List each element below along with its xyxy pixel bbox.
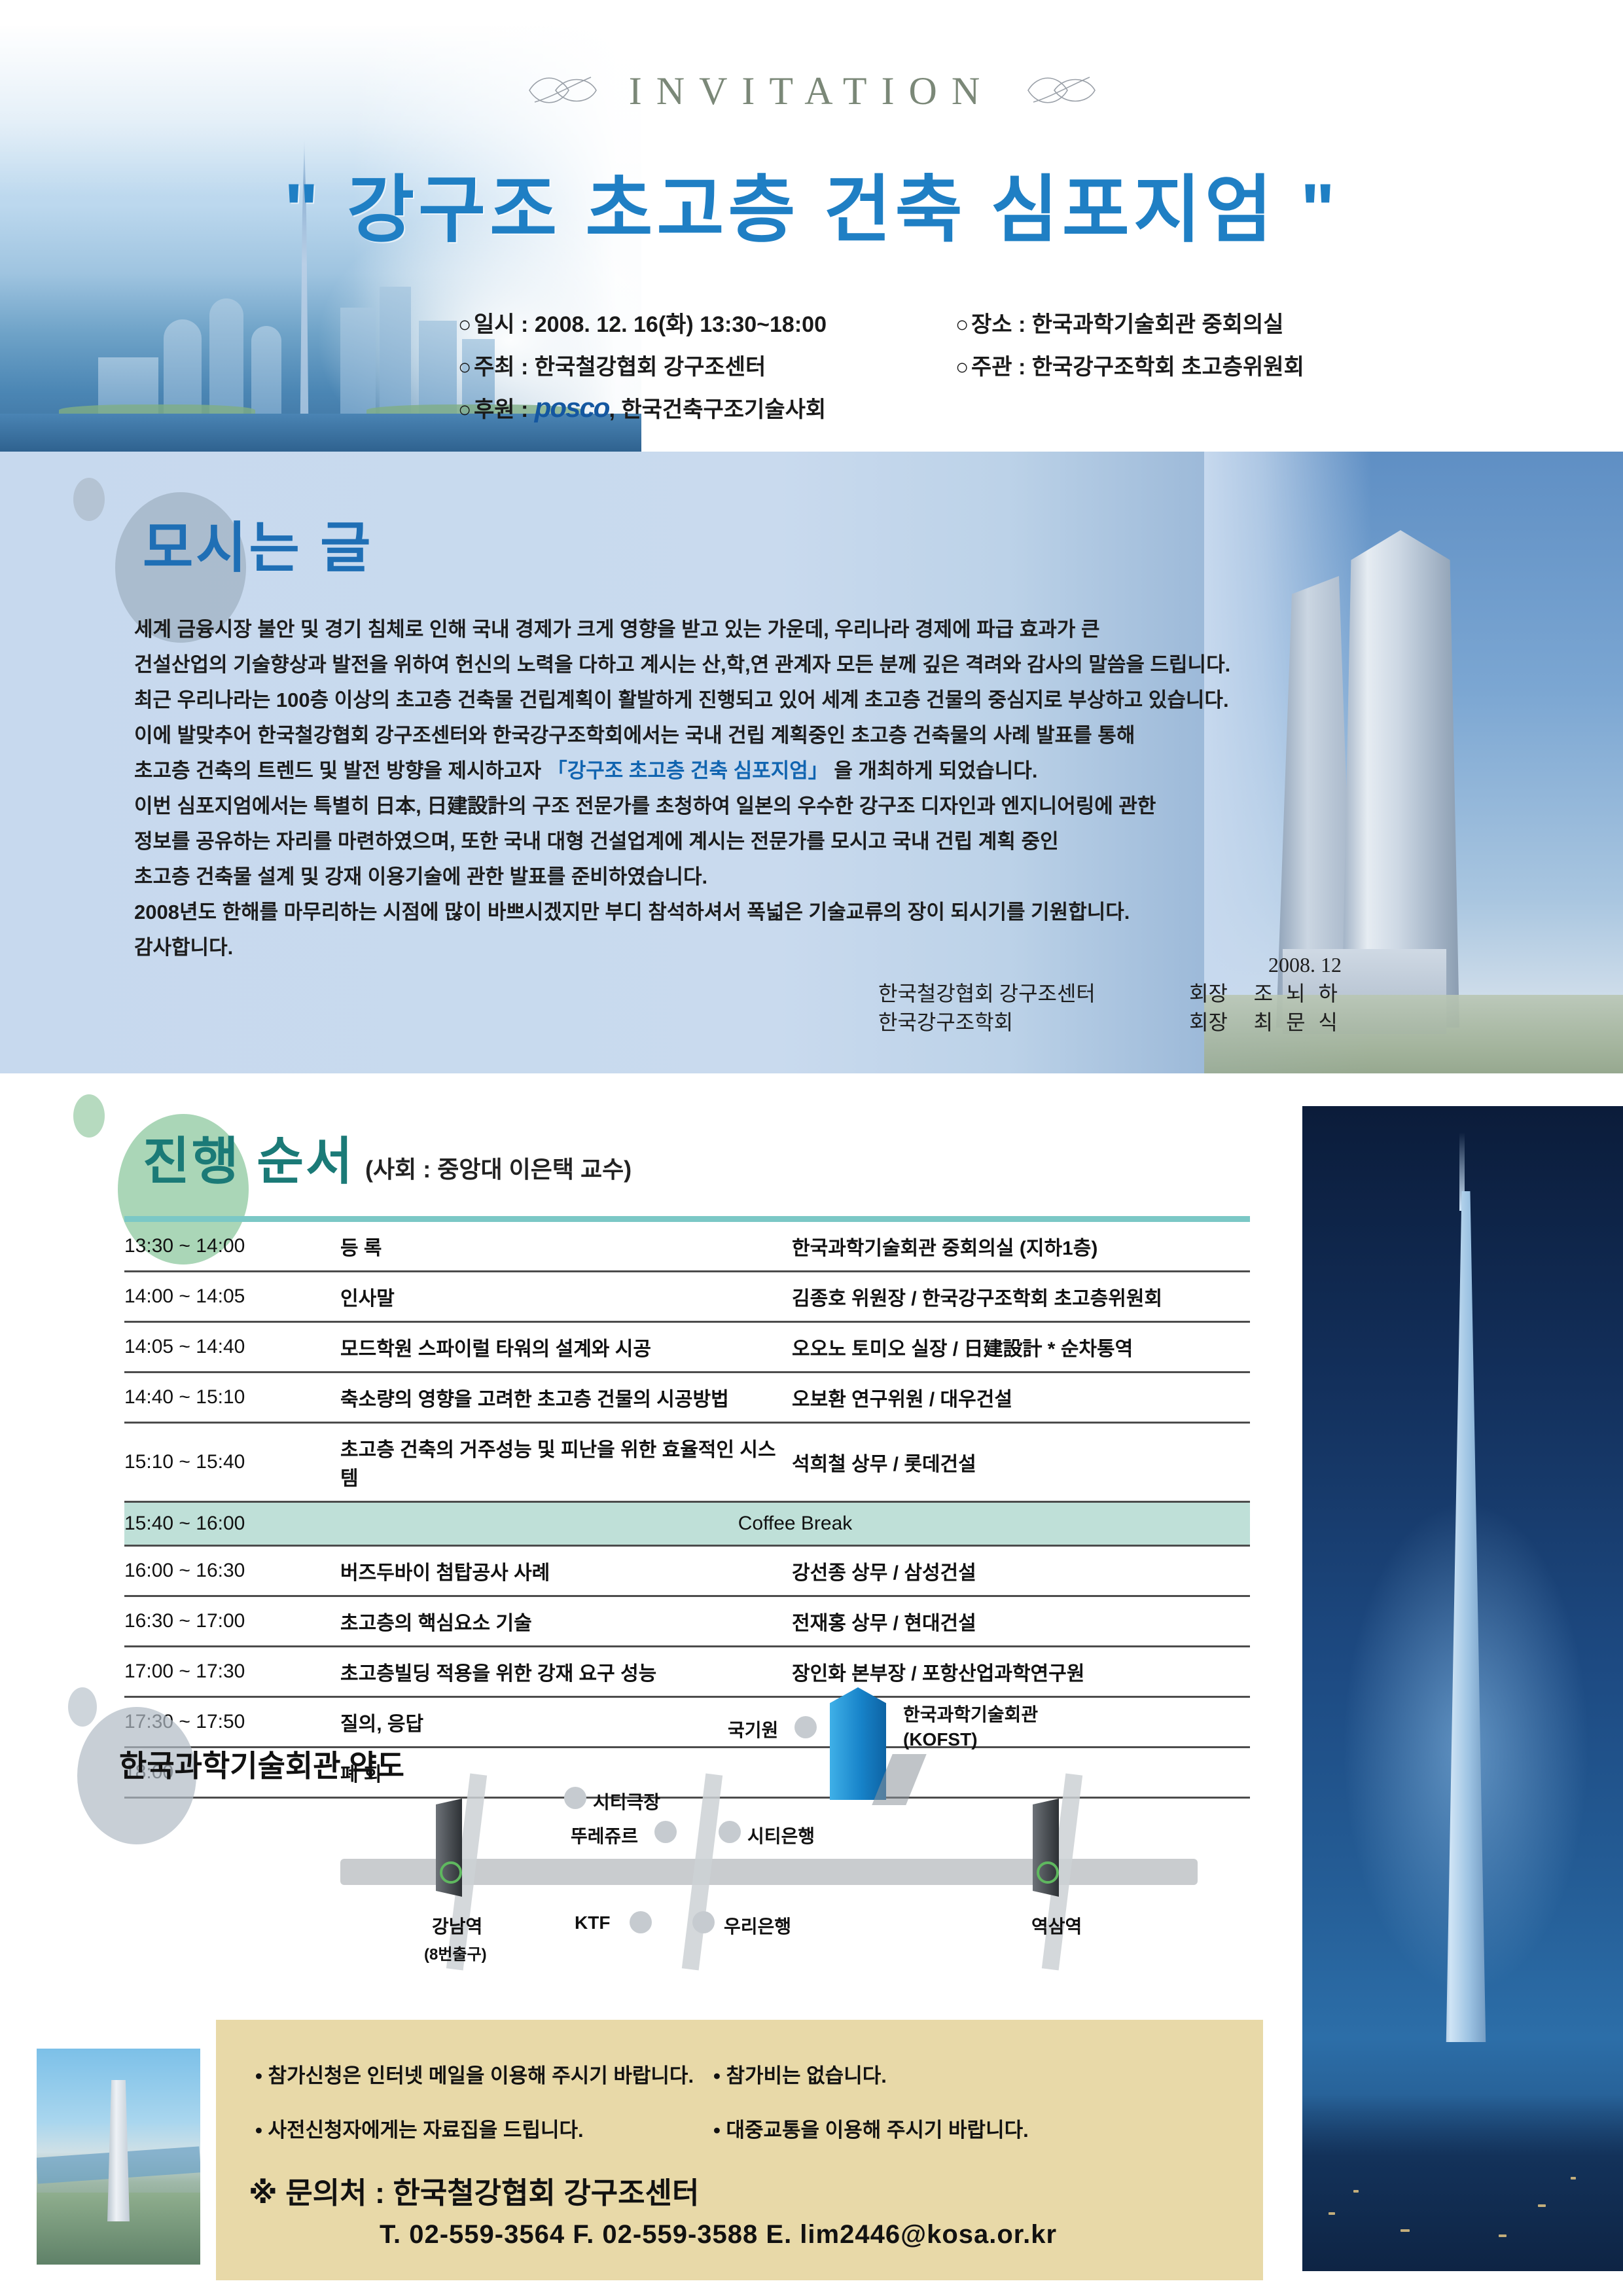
bullet-circle-icon: ○ xyxy=(955,312,971,338)
event-venue: ○장소 : 한국과학기술회관 중회의실 xyxy=(955,306,1284,338)
poster-footer: • 참가신청은 인터넷 메일을 이용해 주시기 바랍니다. • 참가비는 없습니… xyxy=(0,2003,1302,2296)
signature-row: 한국강구조학회 회장 최 문 식 xyxy=(878,1008,1342,1037)
schedule-speaker: 강선종 상무 / 삼성건설 xyxy=(792,1546,1250,1596)
map-venue-name: 한국과학기술회관 xyxy=(903,1700,1038,1727)
map-label-gangnam-station: 강남역 xyxy=(432,1912,482,1939)
greeting-line: 세계 금융시장 불안 및 경기 침체로 인해 국내 경제가 크게 영향을 받고 … xyxy=(134,612,1260,647)
greeting-section: 모시는 글 세계 금융시장 불안 및 경기 침체로 인해 국내 경제가 크게 영… xyxy=(0,452,1623,1073)
header-info-row: ○후원 : posco, 한국건축구조기술사회 xyxy=(458,391,1584,423)
greeting-line: 이에 발맞추어 한국철강협회 강구조센터와 한국강구조학회에서는 국내 건립 계… xyxy=(134,718,1260,753)
map-label-gangnam-exit: (8번출구) xyxy=(424,1941,487,1964)
header-info-row: ○일시 : 2008. 12. 16(화) 13:30~18:00 ○장소 : … xyxy=(458,306,1584,338)
greeting-line: 정보를 공유하는 자리를 마련하였으며, 또한 국내 대형 건설업계에 계시는 … xyxy=(134,824,1260,859)
poster-page: INVITATION " 강구조 초고층 건축 심포지엄 " ○일시 : 200… xyxy=(0,0,1623,2296)
decorative-blob-small-green xyxy=(73,1094,105,1138)
footer-note-left: • 참가신청은 인터넷 메일을 이용해 주시기 바랍니다. xyxy=(255,2059,713,2089)
signature-date: 2008. 12 xyxy=(878,950,1342,979)
city-light xyxy=(1400,2229,1410,2232)
header-building xyxy=(209,298,243,418)
schedule-time: 14:40 ~ 15:10 xyxy=(124,1372,340,1423)
contact-title: ※ 문의처 : 한국철강협회 강구조센터 xyxy=(249,2169,699,2212)
signature-role: 회장 xyxy=(1169,979,1228,1008)
schedule-time: 14:00 ~ 14:05 xyxy=(124,1272,340,1322)
header-building xyxy=(380,287,411,418)
signature-block: 2008. 12 한국철강협회 강구조센터 회장 조 뇌 하 한국강구조학회 회… xyxy=(878,950,1342,1037)
footer-note-right: • 참가비는 없습니다. xyxy=(713,2059,887,2089)
schedule-break-label: Coffee Break xyxy=(340,1502,1250,1546)
schedule-speaker: 전재홍 상무 / 현대건설 xyxy=(792,1596,1250,1647)
schedule-time: 16:30 ~ 17:00 xyxy=(124,1596,340,1647)
event-organizer-label: 주관 : 한국강구조학회 초고층위원회 xyxy=(971,355,1304,380)
header-info-block: ○일시 : 2008. 12. 16(화) 13:30~18:00 ○장소 : … xyxy=(458,306,1584,434)
schedule-speaker: 오오노 토미오 실장 / 日建設計 * 순차통역 xyxy=(792,1322,1250,1372)
signature-row: 한국철강협회 강구조센터 회장 조 뇌 하 xyxy=(878,979,1342,1008)
event-organizer: ○주관 : 한국강구조학회 초고층위원회 xyxy=(955,349,1304,381)
decorative-blob-small-gray xyxy=(68,1687,97,1727)
bullet-circle-icon: ○ xyxy=(955,355,971,380)
invitation-heading: INVITATION xyxy=(0,69,1623,120)
map-venue-sub: (KOFST) xyxy=(903,1729,978,1750)
signature-org: 한국철강협회 강구조센터 xyxy=(878,979,1153,1008)
schedule-time: 13:30 ~ 14:00 xyxy=(124,1219,340,1272)
greeting-symposium-name: 「강구조 초고층 건축 심포지엄」 xyxy=(547,759,829,782)
map-label-city-bank: 시티은행 xyxy=(747,1822,815,1848)
table-row: 16:00 ~ 16:30버즈두바이 첨탑공사 사례강선종 상무 / 삼성건설 xyxy=(124,1546,1250,1596)
map-label-woori-bank: 우리은행 xyxy=(724,1912,791,1939)
bullet-circle-icon: ○ xyxy=(458,397,474,423)
map-title: 한국과학기술회관 약도 xyxy=(119,1742,404,1785)
table-row: 13:30 ~ 14:00등 록한국과학기술회관 중회의실 (지하1층) xyxy=(124,1219,1250,1272)
header-building xyxy=(419,321,457,418)
event-date: ○일시 : 2008. 12. 16(화) 13:30~18:00 xyxy=(458,306,955,338)
map-section: 한국과학기술회관 약도 한국과학기술회관 (KOFST) 국기원 시티극장 뚜레… xyxy=(0,1676,1302,2003)
greeting-line: 2008년도 한해를 마무리하는 시점에 많이 바쁘시겠지만 부디 참석하셔서 … xyxy=(134,895,1260,930)
night-city-base xyxy=(1302,2094,1623,2271)
schedule-topic: 초고층 건축의 거주성능 및 피난을 위한 효율적인 시스템 xyxy=(340,1423,792,1502)
footer-note-right: • 대중교통을 이용해 주시기 바랍니다. xyxy=(713,2113,1029,2143)
event-sponsor: ○후원 : posco, 한국건축구조기술사회 xyxy=(458,391,826,423)
schedule-time: 15:10 ~ 15:40 xyxy=(124,1423,340,1502)
event-venue-label: 장소 : 한국과학기술회관 중회의실 xyxy=(971,312,1284,337)
signature-name: 최 문 식 xyxy=(1243,1008,1342,1037)
signature-role: 회장 xyxy=(1169,1008,1228,1037)
schedule-time: 16:00 ~ 16:30 xyxy=(124,1546,340,1596)
map-dot xyxy=(692,1911,715,1933)
poster-header: INVITATION " 강구조 초고층 건축 심포지엄 " ○일시 : 200… xyxy=(0,0,1623,452)
event-sponsor-prefix: 후원 : xyxy=(474,397,535,422)
city-light xyxy=(1538,2204,1546,2207)
thumbnail-tower xyxy=(107,2080,130,2221)
greeting-line-pre: 초고층 건축의 트렌드 및 발전 방향을 제시하고자 xyxy=(134,759,547,782)
kofst-building-icon xyxy=(830,1687,886,1800)
bullet-circle-icon: ○ xyxy=(458,312,474,338)
map-label-yeoksam-station: 역삼역 xyxy=(1031,1912,1082,1939)
map-label-ktf: KTF xyxy=(575,1912,610,1933)
footer-notes: • 참가신청은 인터넷 메일을 이용해 주시기 바랍니다. • 참가비는 없습니… xyxy=(255,2059,1204,2168)
schedule-topic: 초고층의 핵심요소 기술 xyxy=(340,1596,792,1647)
greeting-line-post: 을 개최하게 되었습니다. xyxy=(829,759,1038,782)
contact-details: T. 02-559-3564 F. 02-559-3588 E. lim2446… xyxy=(380,2220,1057,2250)
program-moderator: (사회 : 중앙대 이은택 교수) xyxy=(365,1151,632,1185)
header-info-row: ○주최 : 한국철강협회 강구조센터 ○주관 : 한국강구조학회 초고층위원회 xyxy=(458,349,1584,381)
schedule-time: 14:05 ~ 14:40 xyxy=(124,1322,340,1372)
greeting-line: 이번 심포지엄에서는 특별히 日本, 日建設計의 구조 전문가를 초청하여 일본… xyxy=(134,789,1260,824)
footer-thumbnail-image xyxy=(37,2049,200,2265)
schedule-speaker: 김종호 위원장 / 한국강구조학회 초고층위원회 xyxy=(792,1272,1250,1322)
city-light xyxy=(1329,2212,1335,2215)
city-light xyxy=(1353,2190,1359,2193)
header-building xyxy=(340,308,376,418)
city-light xyxy=(1499,2234,1507,2237)
map-dot xyxy=(630,1911,652,1933)
event-host: ○주최 : 한국철강협회 강구조센터 xyxy=(458,349,955,381)
map-dot xyxy=(654,1821,677,1843)
map-dot xyxy=(564,1787,586,1809)
subway-station-marker xyxy=(436,1799,462,1897)
footer-note-left: • 사전신청자에게는 자료집을 드립니다. xyxy=(255,2113,713,2143)
header-building xyxy=(164,319,202,418)
table-row: 14:00 ~ 14:05인사말김종호 위원장 / 한국강구조학회 초고층위원회 xyxy=(124,1272,1250,1322)
subway-station-marker xyxy=(1033,1799,1059,1897)
map-dot xyxy=(794,1716,817,1738)
schedule-topic: 등 록 xyxy=(340,1219,792,1272)
invitation-label: INVITATION xyxy=(629,69,994,113)
footer-note-row: • 사전신청자에게는 자료집을 드립니다. • 대중교통을 이용해 주시기 바랍… xyxy=(255,2113,1204,2143)
night-tower-image xyxy=(1302,1106,1623,2271)
greeting-body: 세계 금융시장 불안 및 경기 침체로 인해 국내 경제가 크게 영향을 받고 … xyxy=(134,612,1260,965)
table-row: 14:05 ~ 14:40모드학원 스파이럴 타워의 설계와 시공오오노 토미오… xyxy=(124,1322,1250,1372)
schedule-topic: 인사말 xyxy=(340,1272,792,1322)
greeting-line: 건설산업의 기술향상과 발전을 위하여 헌신의 노력을 다하고 계시는 산,학,… xyxy=(134,647,1260,683)
table-row: 15:40 ~ 16:00Coffee Break xyxy=(124,1502,1250,1546)
city-light xyxy=(1571,2177,1576,2179)
table-row: 16:30 ~ 17:00초고층의 핵심요소 기술전재홍 상무 / 현대건설 xyxy=(124,1596,1250,1647)
schedule-time: 15:40 ~ 16:00 xyxy=(124,1502,340,1546)
schedule-topic: 버즈두바이 첨탑공사 사례 xyxy=(340,1546,792,1596)
flourish-right-icon xyxy=(1022,71,1100,120)
map-dot xyxy=(719,1821,741,1843)
event-host-label: 주최 : 한국철강협회 강구조센터 xyxy=(474,355,766,380)
signature-name: 조 뇌 하 xyxy=(1243,979,1342,1008)
header-building xyxy=(251,326,281,418)
map-label-gukgiwon: 국기원 xyxy=(728,1716,778,1742)
map-label-ddurejureu: 뚜레쥬르 xyxy=(571,1822,638,1848)
footer-note-row: • 참가신청은 인터넷 메일을 이용해 주시기 바랍니다. • 참가비는 없습니… xyxy=(255,2059,1204,2089)
schedule-speaker: 석희철 상무 / 롯데건설 xyxy=(792,1423,1250,1502)
schedule-topic: 축소량의 영향을 고려한 초고층 건물의 시공방법 xyxy=(340,1372,792,1423)
greeting-line: 초고층 건축물 설계 및 강재 이용기술에 관한 발표를 준비하였습니다. xyxy=(134,859,1260,895)
table-row: 14:40 ~ 15:10축소량의 영향을 고려한 초고층 건물의 시공방법오보… xyxy=(124,1372,1250,1423)
schedule-topic: 모드학원 스파이럴 타워의 설계와 시공 xyxy=(340,1322,792,1372)
symposium-title: " 강구조 초고층 건축 심포지엄 " xyxy=(0,151,1623,257)
greeting-line: 최근 우리나라는 100층 이상의 초고층 건축물 건립계획이 활발하게 진행되… xyxy=(134,683,1260,718)
table-row: 15:10 ~ 15:40초고층 건축의 거주성능 및 피난을 위한 효율적인 … xyxy=(124,1423,1250,1502)
posco-logo: posco xyxy=(535,392,609,423)
event-sponsor-rest: , 한국건축구조기술사회 xyxy=(609,397,826,422)
footer-band: • 참가신청은 인터넷 메일을 이용해 주시기 바랍니다. • 참가비는 없습니… xyxy=(216,2020,1263,2280)
greeting-title: 모시는 글 xyxy=(143,504,373,583)
program-title: 진행 순서 xyxy=(143,1121,355,1194)
subway-badge-icon xyxy=(440,1861,462,1884)
flourish-left-icon xyxy=(523,71,601,120)
subway-badge-icon xyxy=(1037,1861,1059,1884)
signature-org: 한국강구조학회 xyxy=(878,1008,1153,1037)
event-date-label: 일시 : 2008. 12. 16(화) 13:30~18:00 xyxy=(474,312,827,337)
schedule-speaker: 한국과학기술회관 중회의실 (지하1층) xyxy=(792,1219,1250,1272)
decorative-blob-small xyxy=(73,478,105,521)
schedule-speaker: 오보환 연구위원 / 대우건설 xyxy=(792,1372,1250,1423)
bullet-circle-icon: ○ xyxy=(458,355,474,380)
map-label-city-theater: 시티극장 xyxy=(593,1788,660,1814)
greeting-line-highlighted: 초고층 건축의 트렌드 및 발전 방향을 제시하고자 「강구조 초고층 건축 심… xyxy=(134,753,1260,789)
illuminated-tower xyxy=(1431,1191,1501,2042)
